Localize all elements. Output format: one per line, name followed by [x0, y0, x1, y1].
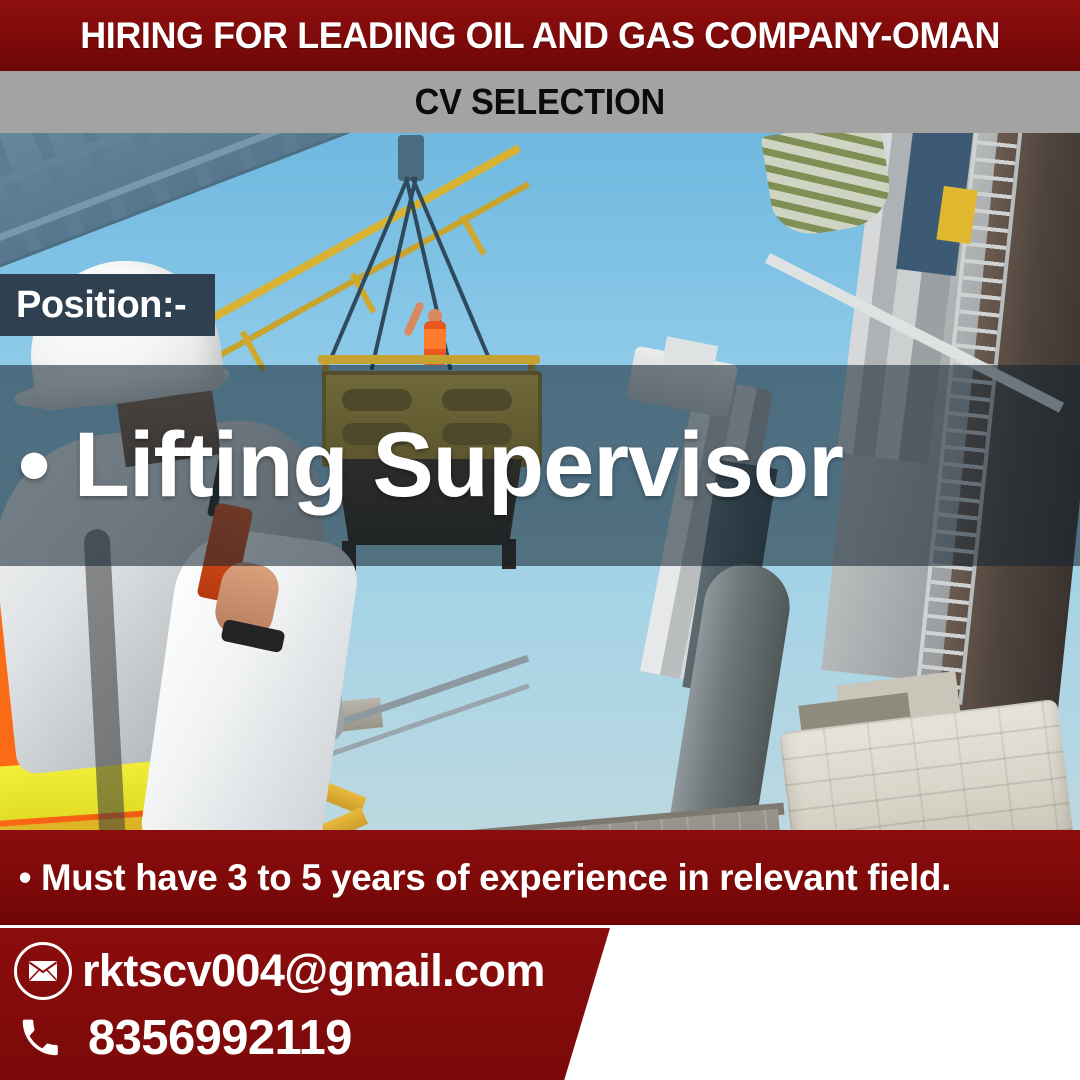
email-address[interactable]: rktscv004@gmail.com	[82, 945, 545, 997]
job-title-container: • Lifting Supervisor	[0, 365, 1080, 566]
requirement-bar: • Must have 3 to 5 years of experience i…	[0, 830, 1080, 925]
header-bar: HIRING FOR LEADING OIL AND GAS COMPANY-O…	[0, 0, 1080, 71]
page-title: HIRING FOR LEADING OIL AND GAS COMPANY-O…	[80, 15, 1000, 57]
subheader-bar: CV SELECTION	[0, 71, 1080, 133]
position-label: Position:-	[0, 284, 186, 327]
phone-icon	[14, 1012, 66, 1064]
crane-hook	[398, 135, 424, 181]
envelope-icon	[14, 942, 72, 1000]
site-photo: • Lifting Supervisor Position:-	[0, 133, 1080, 830]
recruitment-poster: HIRING FOR LEADING OIL AND GAS COMPANY-O…	[0, 0, 1080, 1080]
phone-number[interactable]: 8356992119	[88, 1010, 352, 1066]
basket-worker-vest	[424, 329, 446, 349]
subheader-title: CV SELECTION	[415, 81, 665, 123]
position-label-chip: Position:-	[0, 274, 215, 336]
contact-block: rktscv004@gmail.com 8356992119	[0, 928, 610, 1080]
phone-row[interactable]: 8356992119	[14, 1010, 352, 1066]
footer: rktscv004@gmail.com 8356992119	[0, 928, 1080, 1080]
job-title: • Lifting Supervisor	[0, 413, 843, 518]
email-row[interactable]: rktscv004@gmail.com	[14, 942, 545, 1000]
requirement-text: • Must have 3 to 5 years of experience i…	[5, 857, 951, 899]
